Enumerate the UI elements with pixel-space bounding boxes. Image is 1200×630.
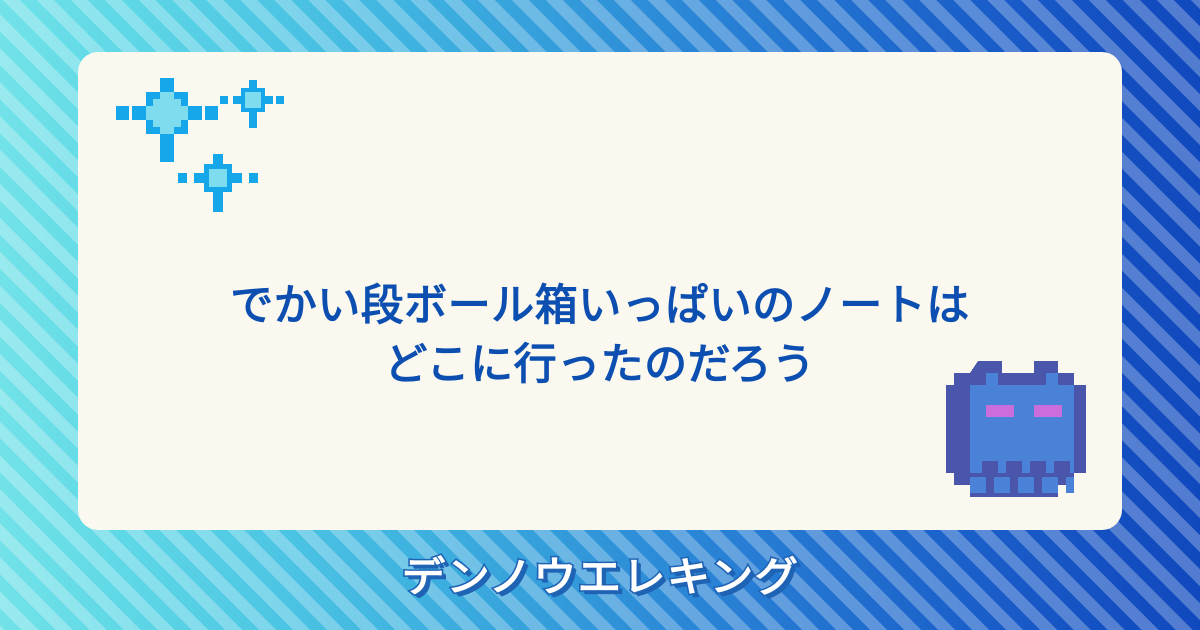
sparkle-large-icon xyxy=(116,78,218,162)
mascot-eye-right xyxy=(1034,405,1062,417)
mascot xyxy=(946,357,1098,509)
content-card: でかい段ボール箱いっぱいのノートは どこに行ったのだろう xyxy=(78,52,1122,530)
site-logo[interactable]: デンノウエレキング xyxy=(0,548,1200,610)
site-logo-text: デンノウエレキング xyxy=(401,548,798,606)
page-root: でかい段ボール箱いっぱいのノートは どこに行ったのだろう xyxy=(0,0,1200,630)
ghost-mascot-icon xyxy=(946,361,1086,497)
sparkle-small-top-icon xyxy=(220,80,284,128)
sparkle-decoration xyxy=(108,66,308,236)
headline-line-2: どこに行ったのだろう xyxy=(138,336,1062,395)
sparkle-small-bottom-icon xyxy=(178,154,258,212)
mascot-eye-left xyxy=(986,405,1014,417)
headline-line-1: でかい段ボール箱いっぱいのノートは xyxy=(138,277,1062,336)
